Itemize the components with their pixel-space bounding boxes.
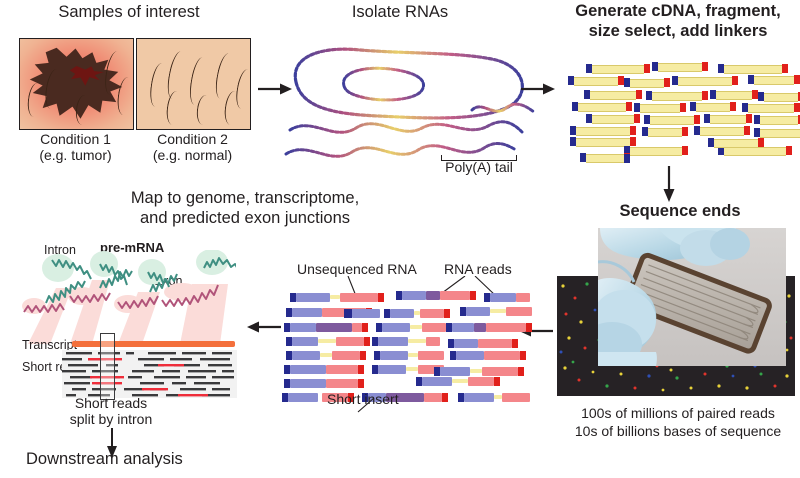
arrow-isolate-to-cdna [521, 80, 555, 98]
sequence-stat-line1: 100s of millions of paired reads [556, 406, 800, 422]
pre-mrna-strand [22, 250, 236, 324]
isolate-heading: Isolate RNAs [310, 3, 490, 21]
split-reads-line1: Short reads [56, 396, 166, 412]
condition1-label-line1: Condition 1 [19, 132, 132, 148]
condition2-tissue-image [136, 38, 251, 130]
map-heading-line2: and predicted exon junctions [95, 209, 395, 227]
split-reads-line2: split by intron [56, 412, 166, 428]
arrow-reads-to-map [247, 318, 281, 336]
polya-label: Poly(A) tail [420, 160, 538, 176]
cdna-heading-line1: Generate cDNA, fragment, [556, 2, 800, 20]
intron-gap-box [100, 333, 115, 400]
sequence-stat-line2: 10s of billions bases of sequence [556, 424, 800, 440]
rnaseq-workflow-figure: Samples of interest Condition 1 (e.g. tu… [0, 0, 800, 478]
condition2-label-line2: (e.g. normal) [136, 148, 249, 164]
downstream-heading: Downstream analysis [26, 450, 183, 468]
map-heading-line1: Map to genome, transcriptome, [95, 189, 395, 207]
condition2-label-line1: Condition 2 [136, 132, 249, 148]
isolated-rna-strands [282, 38, 542, 163]
sequence-heading: Sequence ends [590, 202, 770, 220]
paired-reads-pool [288, 293, 534, 405]
arrow-cdna-to-sequence [660, 166, 678, 202]
cdna-heading-line2: size select, add linkers [556, 22, 800, 40]
short-insert-label: Short insert [327, 392, 399, 408]
cdna-fragment-pool [558, 58, 800, 164]
condition1-label-line2: (e.g. tumor) [19, 148, 132, 164]
transcript-bar [72, 341, 235, 347]
short-reads-pileup [62, 350, 237, 398]
flowcell-photo [598, 228, 786, 366]
condition1-tissue-image [19, 38, 134, 130]
samples-heading: Samples of interest [24, 3, 234, 21]
